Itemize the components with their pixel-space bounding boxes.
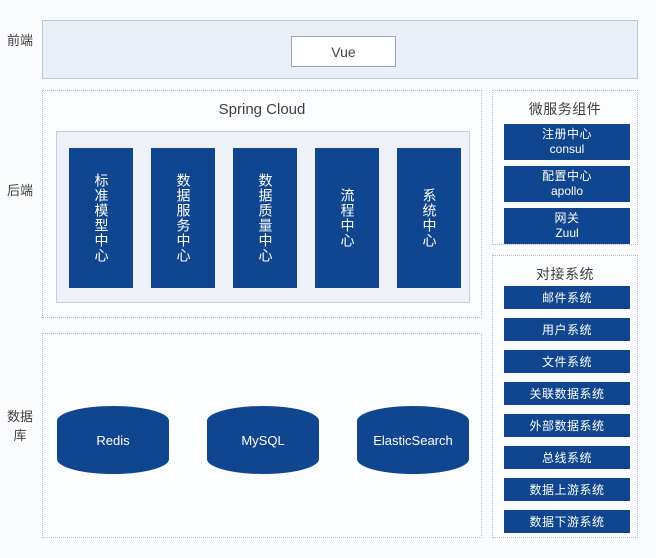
architecture-diagram: 前端 后端 数据库 Vue Spring Cloud 标准模型中心 数据服务中心… — [0, 0, 656, 558]
service-box-label: 标准模型中心 — [92, 173, 111, 263]
service-box-label: 系统中心 — [420, 188, 439, 248]
service-box-label: 数据服务中心 — [174, 173, 193, 263]
tier-label-database: 数据库 — [6, 407, 34, 445]
microservice-item-registry[interactable]: 注册中心 consul — [504, 124, 630, 160]
integration-item-user[interactable]: 用户系统 — [504, 318, 630, 341]
microservice-item-config[interactable]: 配置中心 apollo — [504, 166, 630, 202]
service-box-data-service-center[interactable]: 数据服务中心 — [151, 148, 215, 288]
microservice-item-label-en: apollo — [551, 184, 583, 199]
integration-systems-list: 邮件系统 用户系统 文件系统 关联数据系统 外部数据系统 总线系统 数据上游系统… — [504, 286, 630, 542]
service-box-label: 数据质量中心 — [256, 173, 275, 263]
spring-cloud-title: Spring Cloud — [43, 101, 481, 118]
integration-item-bus[interactable]: 总线系统 — [504, 446, 630, 469]
frontend-vue-box[interactable]: Vue — [291, 36, 396, 67]
microservice-item-label-en: consul — [550, 142, 585, 157]
database-section: Redis MySQL ElasticSearch — [42, 333, 482, 538]
database-cylinder-label: MySQL — [241, 433, 284, 448]
database-cylinder-row: Redis MySQL ElasticSearch — [57, 406, 469, 476]
tier-label-frontend: 前端 — [6, 31, 34, 50]
microservice-item-label-cn: 配置中心 — [542, 169, 592, 184]
service-box-system-center[interactable]: 系统中心 — [397, 148, 461, 288]
database-cylinder-mysql[interactable]: MySQL — [207, 406, 319, 474]
microservice-item-label-cn: 网关 — [554, 211, 579, 226]
database-cylinder-redis[interactable]: Redis — [57, 406, 169, 474]
microservice-item-gateway[interactable]: 网关 Zuul — [504, 208, 630, 244]
microservice-components-panel: 微服务组件 注册中心 consul 配置中心 apollo 网关 Zuul — [492, 90, 638, 245]
integration-item-downstream-data[interactable]: 数据下游系统 — [504, 510, 630, 533]
database-cylinder-label: Redis — [96, 433, 129, 448]
microservice-item-label-cn: 注册中心 — [542, 127, 592, 142]
integration-item-file[interactable]: 文件系统 — [504, 350, 630, 373]
service-box-label: 流程中心 — [338, 188, 357, 248]
tier-label-backend: 后端 — [6, 181, 34, 200]
integration-item-mail[interactable]: 邮件系统 — [504, 286, 630, 309]
integration-item-external-data[interactable]: 外部数据系统 — [504, 414, 630, 437]
integration-systems-title: 对接系统 — [493, 264, 637, 284]
service-box-process-center[interactable]: 流程中心 — [315, 148, 379, 288]
integration-item-upstream-data[interactable]: 数据上游系统 — [504, 478, 630, 501]
microservice-components-title: 微服务组件 — [493, 99, 637, 119]
integration-systems-panel: 对接系统 邮件系统 用户系统 文件系统 关联数据系统 外部数据系统 总线系统 数… — [492, 255, 638, 538]
microservice-item-label-en: Zuul — [555, 226, 578, 241]
spring-cloud-container: 标准模型中心 数据服务中心 数据质量中心 流程中心 系统中心 — [56, 131, 470, 303]
microservice-components-list: 注册中心 consul 配置中心 apollo 网关 Zuul — [504, 124, 630, 250]
service-box-row: 标准模型中心 数据服务中心 数据质量中心 流程中心 系统中心 — [69, 148, 461, 288]
database-cylinder-label: ElasticSearch — [373, 433, 452, 448]
service-box-standard-model-center[interactable]: 标准模型中心 — [69, 148, 133, 288]
integration-item-linked-data[interactable]: 关联数据系统 — [504, 382, 630, 405]
frontend-section: Vue — [42, 20, 638, 79]
service-box-data-quality-center[interactable]: 数据质量中心 — [233, 148, 297, 288]
database-cylinder-elasticsearch[interactable]: ElasticSearch — [357, 406, 469, 474]
backend-section: Spring Cloud 标准模型中心 数据服务中心 数据质量中心 流程中心 系… — [42, 90, 482, 318]
